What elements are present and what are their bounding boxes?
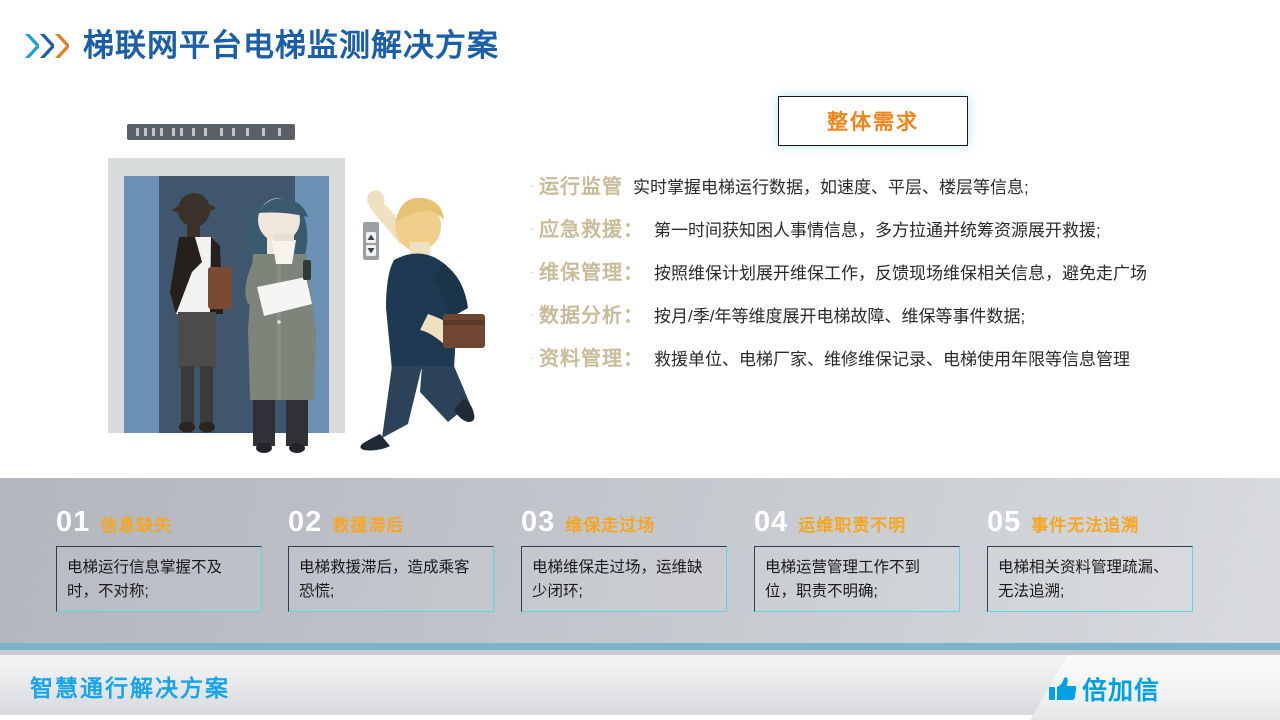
card-tag: 信息缺失 [100, 511, 172, 536]
chevron-group-icon [24, 32, 69, 60]
card-number: 01 [56, 508, 90, 537]
chevron-right-icon-2 [39, 32, 54, 60]
bullet-dot-icon: · [530, 265, 539, 278]
requirement-text: 第一时间获知困人事情信息，多方拉通并统筹资源展开救援; [654, 220, 1101, 241]
card-header: 05 事件无法追溯 [987, 508, 1193, 540]
briefcase-icon [208, 267, 232, 309]
slide-root: 梯联网平台电梯监测解决方案 [0, 0, 1280, 720]
chevron-right-icon-3 [54, 32, 69, 60]
requirement-label: 运行监管 [539, 170, 623, 199]
bullet-dot-icon: · [530, 308, 539, 321]
bullet-dot-icon: · [530, 222, 539, 235]
card-body-text: 电梯救援滞后，造成乘客恐慌; [288, 546, 494, 612]
pain-point-card-02[interactable]: 02 救援滞后 电梯救援滞后，造成乘客恐慌; [288, 508, 494, 612]
pain-point-card-03[interactable]: 03 维保走过场 电梯维保走过场，运维缺少闭环; [521, 508, 727, 612]
requirement-text: 按照维保计划展开维保工作，反馈现场维保相关信息，避免走广场 [654, 263, 1147, 284]
footer-left-label: 智慧通行解决方案 [30, 669, 230, 703]
card-tag: 事件无法追溯 [1031, 511, 1139, 536]
list-item: · 数据分析： 按月/季/年等维度展开电梯故障、维保等事件数据; [530, 299, 1260, 328]
pain-point-card-05[interactable]: 05 事件无法追溯 电梯相关资料管理疏漏、无法追溯; [987, 508, 1193, 612]
requirement-text: 按月/季/年等维度展开电梯故障、维保等事件数据; [654, 306, 1025, 327]
footer-bar: 智慧通行解决方案 倍加信 [0, 655, 1280, 720]
requirement-text: 救援单位、电梯厂家、维修维保记录、电梯使用年限等信息管理 [654, 349, 1130, 370]
requirement-label: 数据分析： [539, 299, 644, 328]
elevator-scene-illustration [24, 82, 524, 472]
card-number: 04 [754, 508, 788, 537]
card-header: 03 维保走过场 [521, 508, 727, 540]
card-tag: 运维职责不明 [798, 511, 906, 536]
card-header: 01 信息缺失 [56, 508, 262, 540]
elevator-call-button-panel [363, 222, 379, 260]
list-item: · 维保管理： 按照维保计划展开维保工作，反馈现场维保相关信息，避免走广场 [530, 256, 1260, 285]
requirement-label: 维保管理： [539, 256, 644, 285]
requirement-text: 实时掌握电梯运行数据，如速度、平层、楼层等信息; [633, 177, 1029, 198]
card-body-text: 电梯运营管理工作不到位，职责不明确; [754, 546, 960, 612]
page-title-text: 梯联网平台电梯监测解决方案 [83, 30, 499, 61]
list-item: · 应急救援： 第一时间获知困人事情信息，多方拉通并统筹资源展开救援; [530, 213, 1260, 242]
card-number: 03 [521, 508, 555, 537]
requirement-label: 资料管理： [539, 342, 644, 371]
bullet-dot-icon: · [530, 351, 539, 364]
card-number: 05 [987, 508, 1021, 537]
chevron-right-icon-1 [24, 32, 39, 60]
card-number: 02 [288, 508, 322, 537]
card-tag: 维保走过场 [565, 511, 655, 536]
card-header: 04 运维职责不明 [754, 508, 960, 540]
requirement-list: · 运行监管 实时掌握电梯运行数据，如速度、平层、楼层等信息; · 应急救援： … [530, 170, 1260, 385]
card-body-text: 电梯运行信息掌握不及时，不对称; [56, 546, 262, 612]
running-person-figure [360, 190, 485, 450]
list-item: · 资料管理： 救援单位、电梯厂家、维修维保记录、电梯使用年限等信息管理 [530, 342, 1260, 371]
card-body-text: 电梯相关资料管理疏漏、无法追溯; [987, 546, 1193, 612]
pain-point-card-04[interactable]: 04 运维职责不明 电梯运营管理工作不到位，职责不明确; [754, 508, 960, 612]
requirement-label: 应急救援： [539, 213, 644, 242]
card-tag: 救援滞后 [332, 511, 404, 536]
thumbs-up-icon [1048, 675, 1078, 703]
pain-point-card-list: 01 信息缺失 电梯运行信息掌握不及时，不对称; 02 救援滞后 电梯救援滞后，… [0, 478, 1280, 645]
overall-requirement-badge: 整体需求 [778, 96, 968, 146]
briefcase-icon-2 [443, 314, 485, 348]
bullet-dot-icon: · [530, 179, 539, 192]
list-item: · 运行监管 实时掌握电梯运行数据，如速度、平层、楼层等信息; [530, 170, 1260, 199]
pain-point-card-01[interactable]: 01 信息缺失 电梯运行信息掌握不及时，不对称; [56, 508, 262, 612]
brand-logo: 倍加信 [1048, 671, 1160, 707]
card-header: 02 救援滞后 [288, 508, 494, 540]
card-body-text: 电梯维保走过场，运维缺少闭环; [521, 546, 727, 612]
brand-name: 倍加信 [1082, 671, 1160, 707]
page-title: 梯联网平台电梯监测解决方案 [24, 30, 499, 61]
overall-requirement-label: 整体需求 [827, 106, 919, 136]
